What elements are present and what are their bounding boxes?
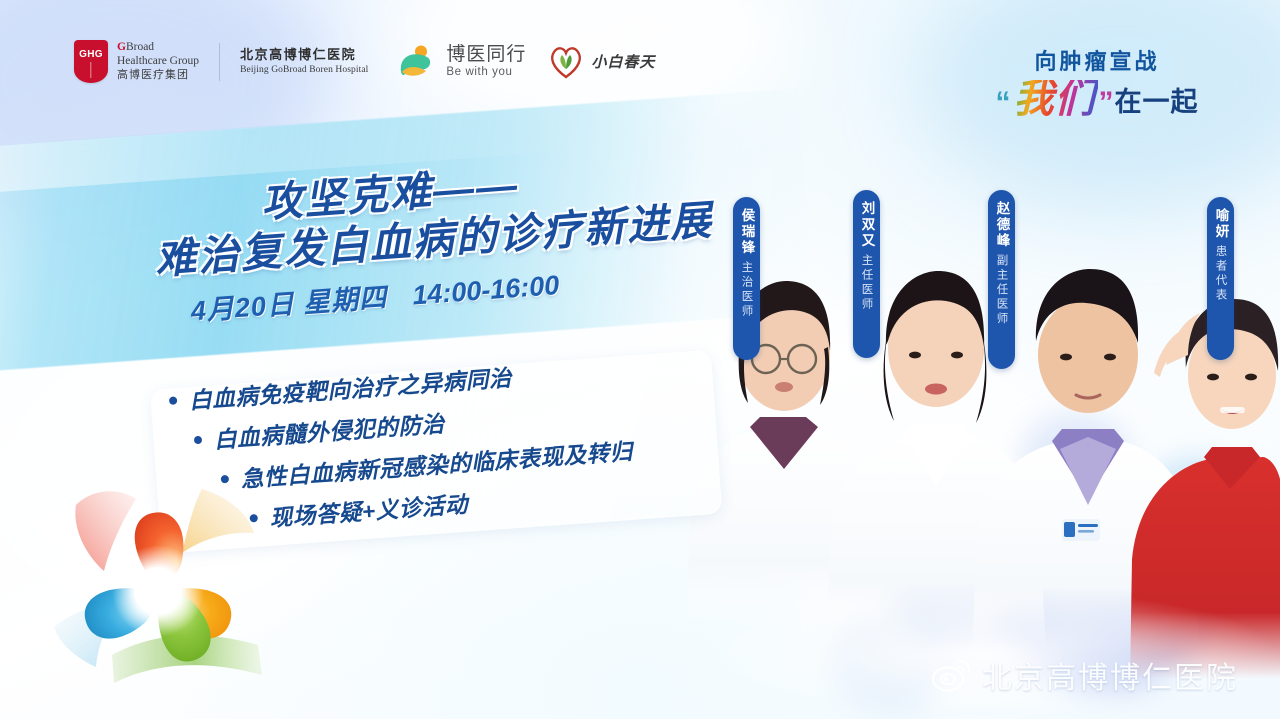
logo-divider <box>219 43 220 81</box>
agenda-item-label: 白血病髓外侵犯的防治 <box>213 406 446 454</box>
hospital-name-cn: 北京高博博仁医院 <box>240 47 368 64</box>
campaign-slogan: 向肿瘤宣战 “ 我们 ” 在一起 <box>962 44 1232 118</box>
speaker-badge-1: 侯瑞锋 主治医师 <box>733 197 760 360</box>
speaker-title: 副主任医师 <box>994 254 1010 327</box>
bullet-dot-icon <box>169 396 178 405</box>
speaker-name: 喻妍 <box>1211 208 1231 240</box>
be-with-you-cn: 博医同行 <box>446 44 526 66</box>
watermark-text: 北京高博博仁医院 <box>982 653 1238 697</box>
gobroad-line-2: Healthcare Group <box>117 55 199 69</box>
agenda-item-label: 现场答疑+义诊活动 <box>269 487 469 533</box>
speaker-title: 患者代表 <box>1213 245 1229 303</box>
speaker-title: 主治医师 <box>739 261 755 319</box>
bullet-dot-icon <box>221 475 230 484</box>
shield-icon: GHG <box>74 40 108 83</box>
heart-leaf-icon <box>548 45 584 79</box>
speaker-badge-3: 赵德峰 副主任医师 <box>988 190 1015 369</box>
be-with-you-en: Be with you <box>446 66 526 79</box>
speaker-badge-2: 刘双又 主任医师 <box>853 190 880 358</box>
bullet-dot-icon <box>194 436 203 445</box>
weibo-icon <box>932 658 972 692</box>
weibo-watermark: 北京高博博仁医院 <box>932 653 1238 697</box>
header-logo-bar: GHG GBroad Healthcare Group 高博医疗集团 北京高博博… <box>74 40 655 83</box>
speaker-name: 侯瑞锋 <box>737 208 757 256</box>
hospital-name-en: Beijing GoBroad Boren Hospital <box>240 64 368 76</box>
speaker-name: 刘双又 <box>857 201 877 249</box>
bullet-dot-icon <box>249 514 258 523</box>
gobroad-group-logo: GHG GBroad Healthcare Group 高博医疗集团 <box>74 40 199 83</box>
be-with-you-wordmark: 博医同行 Be with you <box>446 44 526 79</box>
quote-close: ” <box>1099 88 1114 118</box>
care-swoosh-icon <box>396 43 438 81</box>
quote-open: “ <box>996 88 1011 118</box>
poster-canvas: GHG GBroad Healthcare Group 高博医疗集团 北京高博博… <box>0 0 1280 719</box>
speaker-badge-4: 喻妍 患者代表 <box>1207 197 1234 360</box>
speaker-name: 赵德峰 <box>992 201 1012 249</box>
slogan-highlight: 我们 <box>1012 80 1098 118</box>
slogan-line-1: 向肿瘤宣战 <box>962 44 1232 76</box>
slogan-tail: 在一起 <box>1115 89 1199 118</box>
be-with-you-logo: 博医同行 Be with you <box>396 43 526 81</box>
speaker-title: 主任医师 <box>859 254 875 312</box>
speakers-photo <box>680 159 1280 719</box>
xiaobai-chuntian-text: 小白春天 <box>591 51 655 72</box>
gobroad-line-1: GBroad <box>117 41 199 55</box>
ghg-monogram: GHG <box>79 49 103 60</box>
gobroad-line-3: 高博医疗集团 <box>117 69 199 82</box>
slogan-line-2: “ 我们 ” 在一起 <box>962 80 1232 118</box>
gobroad-group-wordmark: GBroad Healthcare Group 高博医疗集团 <box>117 41 199 82</box>
xiaobai-chuntian-logo: 小白春天 <box>548 45 655 79</box>
hospital-wordmark: 北京高博博仁医院 Beijing GoBroad Boren Hospital <box>240 47 368 76</box>
